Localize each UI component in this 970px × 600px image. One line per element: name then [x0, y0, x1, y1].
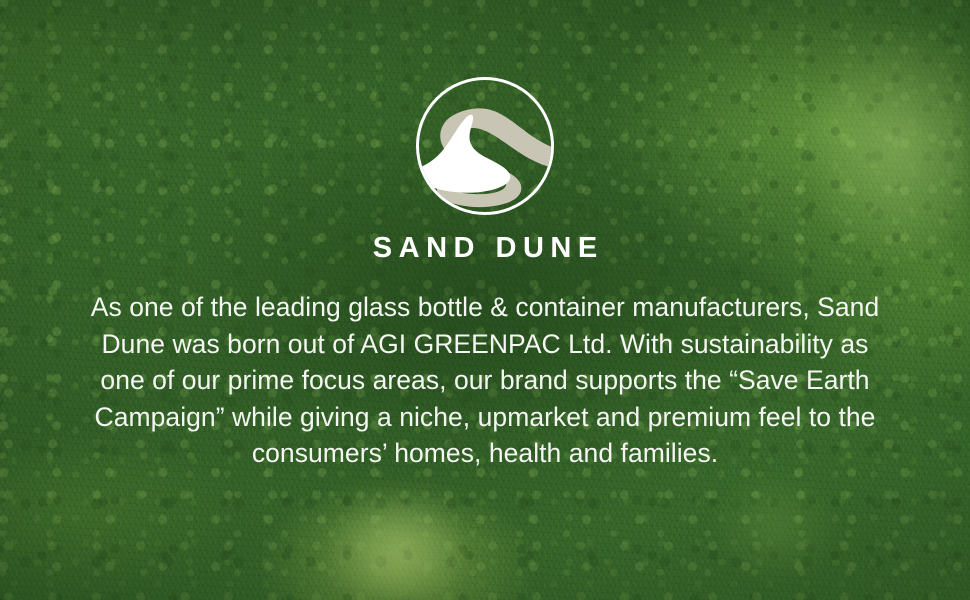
banner-content: SAND DUNE As one of the leading glass bo…	[0, 0, 970, 600]
brand-name: SAND DUNE	[366, 234, 603, 263]
brand-description: As one of the leading glass bottle & con…	[79, 289, 891, 472]
brand-banner: SAND DUNE As one of the leading glass bo…	[0, 0, 970, 600]
sand-dune-circle-logo-icon	[415, 76, 555, 216]
